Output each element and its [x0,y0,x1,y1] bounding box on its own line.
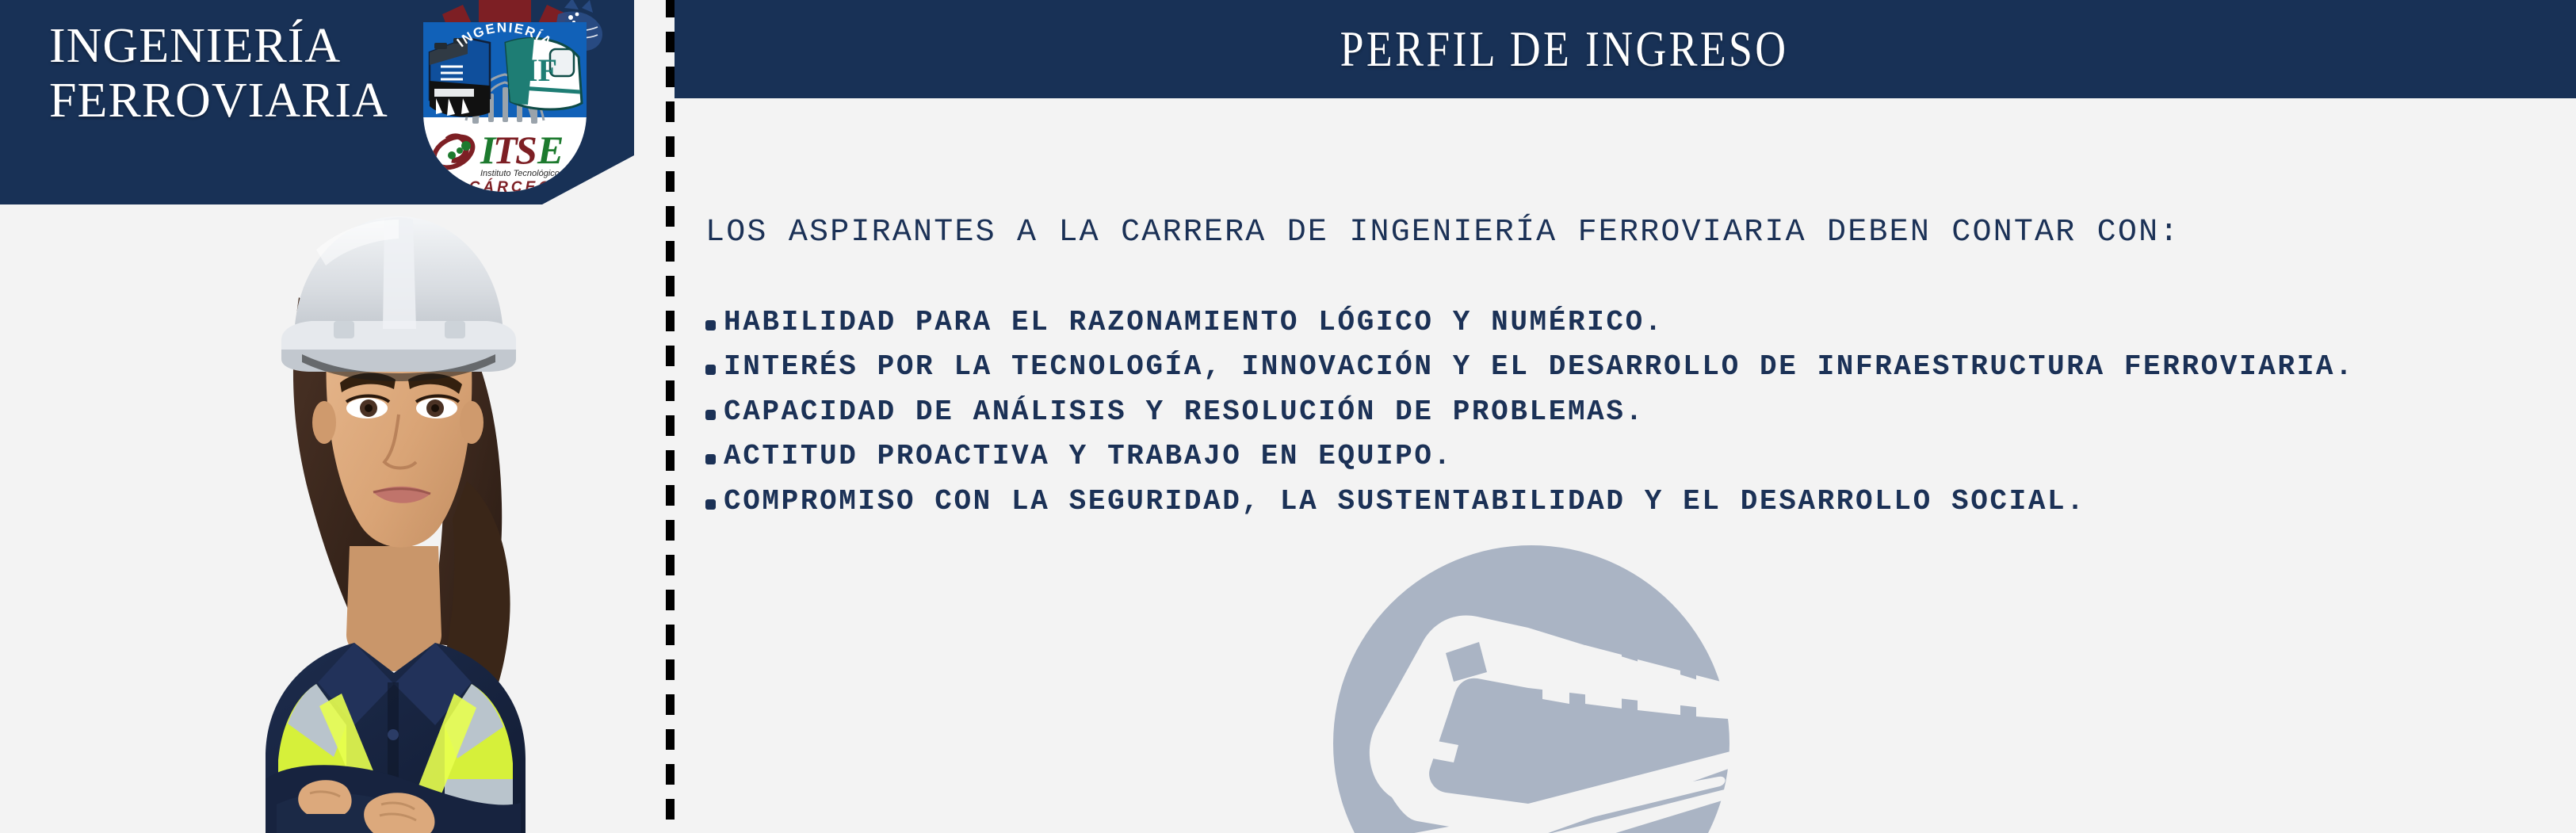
bullet-dot-icon [705,365,716,375]
svg-text:E: E [537,128,564,172]
crest-campus-label: ESCÁRCEGA [442,178,567,196]
requirement-text: HABILIDAD PARA EL RAZONAMIENTO LÓGICO Y … [724,306,2497,339]
requirement-text: CAPACIDAD DE ANÁLISIS Y RESOLUCIÓN DE PR… [724,395,2497,429]
slide-canvas: INGENIERÍA FERROVIARIA [0,0,2576,833]
crest-institute-line: Instituto Tecnológico Superior de [480,169,607,178]
train-watermark-icon [1290,545,1772,833]
header-bar: PERFIL DE INGRESO [675,0,2576,98]
list-item: HABILIDAD PARA EL RAZONAMIENTO LÓGICO Y … [705,306,2497,339]
svg-text:S: S [515,128,537,172]
list-item: CAPACIDAD DE ANÁLISIS Y RESOLUCIÓN DE PR… [705,395,2497,429]
program-title: INGENIERÍA FERROVIARIA [49,19,406,129]
requirement-text: INTERÉS POR LA TECNOLOGÍA, INNOVACIÓN Y … [724,350,2497,384]
program-title-line2: FERROVIARIA [49,74,406,128]
requirement-text: ACTITUD PROACTIVA Y TRABAJO EN EQUIPO. [724,440,2497,473]
page-title: PERFIL DE INGRESO [1340,20,1788,78]
bullet-dot-icon [705,320,716,331]
engineer-photo [147,170,638,833]
svg-text:IF: IF [526,52,557,88]
bullet-dot-icon [705,499,716,510]
requirements-list: HABILIDAD PARA EL RAZONAMIENTO LÓGICO Y … [705,306,2497,518]
program-title-line1: INGENIERÍA [49,19,341,73]
intro-paragraph: LOS ASPIRANTES A LA CARRERA DE INGENIERÍ… [705,214,2497,252]
bullet-dot-icon [705,410,716,420]
content-panel: LOS ASPIRANTES A LA CARRERA DE INGENIERÍ… [705,214,2497,529]
list-item: COMPROMISO CON LA SEGURIDAD, LA SUSTENTA… [705,485,2497,518]
bullet-dot-icon [705,454,716,464]
requirement-text: COMPROMISO CON LA SEGURIDAD, LA SUSTENTA… [724,485,2497,518]
list-item: INTERÉS POR LA TECNOLOGÍA, INNOVACIÓN Y … [705,350,2497,384]
dashed-divider [666,0,675,833]
list-item: ACTITUD PROACTIVA Y TRABAJO EN EQUIPO. [705,440,2497,473]
itse-crest-logo: IF [395,0,615,201]
